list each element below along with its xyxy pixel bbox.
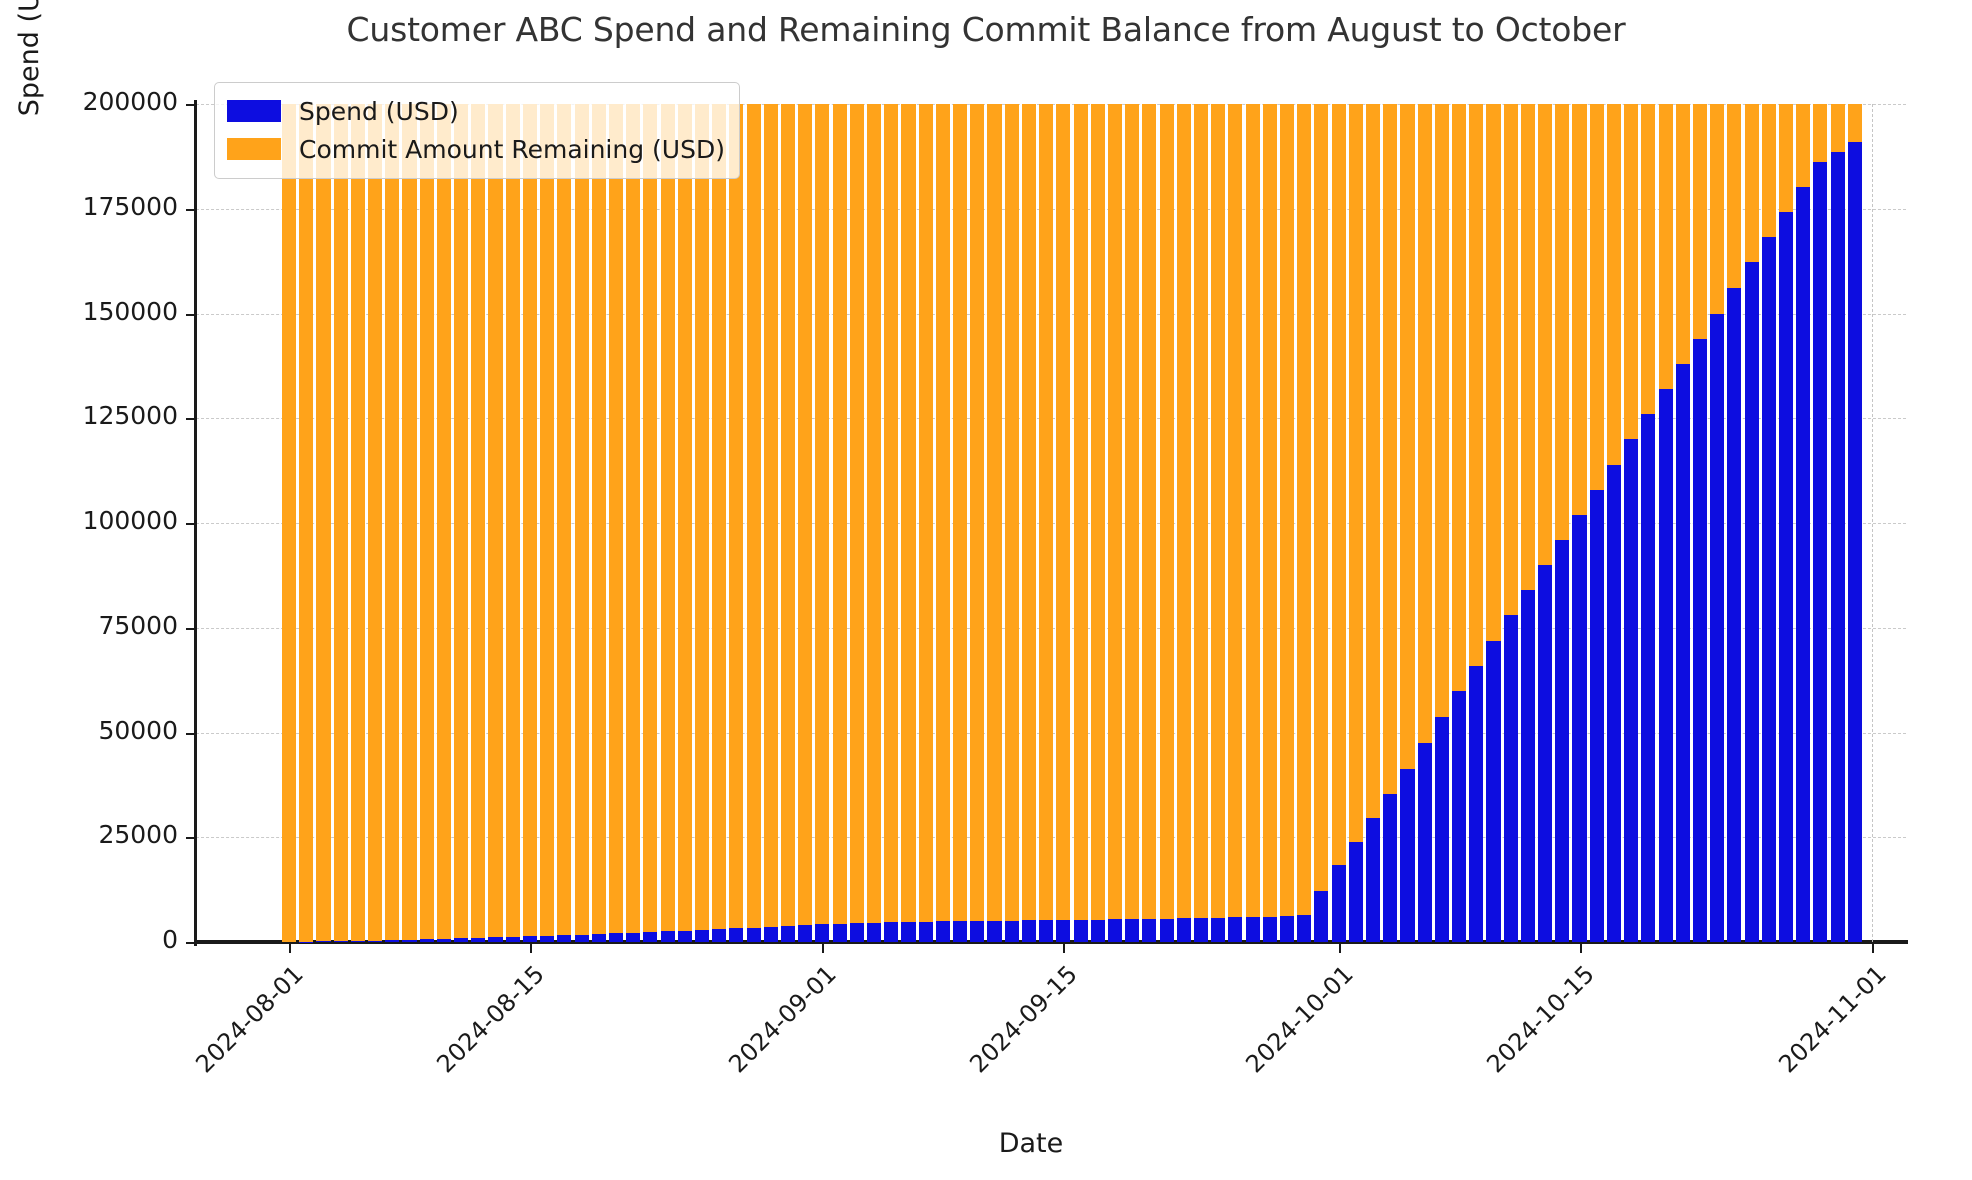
bar-column [850, 104, 864, 942]
bar-segment-commit-remaining [1263, 104, 1277, 917]
bar-column [1572, 104, 1586, 942]
bar-segment-spend [351, 941, 365, 942]
bar-column [282, 104, 296, 942]
bar-segment-commit-remaining [987, 104, 1001, 921]
bar-segment-commit-remaining [1297, 104, 1311, 915]
legend-label-spend: Spend (USD) [299, 97, 459, 126]
bar-column [1504, 104, 1518, 942]
bar-segment-spend [867, 923, 881, 942]
bar-segment-commit-remaining [1177, 104, 1191, 918]
bar-column [919, 104, 933, 942]
bar-segment-spend [454, 938, 468, 942]
chart-figure: Customer ABC Spend and Remaining Commit … [0, 0, 1972, 1180]
bar-column [1521, 104, 1535, 942]
bar-column [626, 104, 640, 942]
bar-column [1400, 104, 1414, 942]
bar-segment-commit-remaining [1332, 104, 1346, 865]
bar-segment-commit-remaining [661, 104, 675, 931]
bar-segment-spend [815, 924, 829, 942]
bar-column [316, 104, 330, 942]
legend-item-spend: Spend (USD) [227, 92, 725, 130]
bar-segment-spend [1383, 794, 1397, 942]
bar-segment-commit-remaining [678, 104, 692, 931]
bar-segment-spend [1418, 743, 1432, 942]
bar-segment-spend [1108, 919, 1122, 942]
bar-segment-spend [1332, 865, 1346, 942]
bar-segment-spend [1177, 918, 1191, 942]
bar-column [1435, 104, 1449, 942]
bar-segment-commit-remaining [1383, 104, 1397, 794]
bar-segment-commit-remaining [695, 104, 709, 930]
bar-column [1263, 104, 1277, 942]
bar-column [1091, 104, 1105, 942]
bar-column [1555, 104, 1569, 942]
bar-column [1693, 104, 1707, 942]
bar-segment-spend [609, 933, 623, 942]
bar-segment-commit-remaining [1486, 104, 1500, 641]
bar-column [1727, 104, 1741, 942]
bar-segment-spend [970, 921, 984, 942]
x-axis-label: Date [0, 1128, 1972, 1159]
bar-segment-spend [1745, 262, 1759, 942]
legend-label-commit-remaining: Commit Amount Remaining (USD) [299, 135, 725, 164]
y-tick-label: 0 [0, 925, 178, 954]
bar-column [1538, 104, 1552, 942]
x-tick-label: 2024-08-01 [148, 960, 309, 1121]
bar-segment-commit-remaining [488, 104, 502, 937]
bar-segment-spend [833, 924, 847, 942]
bar-segment-commit-remaining [575, 104, 589, 935]
y-tick-mark [186, 104, 197, 106]
bar-column [1418, 104, 1432, 942]
bar-column [695, 104, 709, 942]
bar-column [385, 104, 399, 942]
bar-segment-spend [1607, 465, 1621, 942]
bar-segment-commit-remaining [299, 104, 313, 942]
bar-segment-spend [712, 929, 726, 942]
bar-column [506, 104, 520, 942]
y-tick-label: 175000 [0, 192, 178, 221]
y-tick-label: 125000 [0, 401, 178, 430]
legend-swatch-commit-remaining [227, 138, 281, 160]
y-tick-mark [186, 837, 197, 839]
bar-column [1125, 104, 1139, 942]
bar-column [334, 104, 348, 942]
bar-segment-spend [1366, 818, 1380, 942]
bar-column [523, 104, 537, 942]
bar-column [661, 104, 675, 942]
bar-column [1022, 104, 1036, 942]
bar-segment-commit-remaining [1813, 104, 1827, 162]
bar-column [1762, 104, 1776, 942]
bar-column [1745, 104, 1759, 942]
bar-segment-commit-remaining [471, 104, 485, 938]
bar-segment-commit-remaining [815, 104, 829, 924]
bar-segment-commit-remaining [953, 104, 967, 921]
x-tick-mark [1872, 942, 1874, 953]
bar-segment-commit-remaining [867, 104, 881, 923]
bar-segment-spend [850, 923, 864, 942]
bar-segment-spend [1710, 314, 1724, 943]
bar-segment-commit-remaining [609, 104, 623, 933]
bar-segment-commit-remaining [454, 104, 468, 938]
bar-segment-spend [1624, 439, 1638, 942]
bar-segment-spend [626, 933, 640, 942]
bar-segment-spend [1211, 918, 1225, 942]
bar-segment-commit-remaining [1005, 104, 1019, 921]
x-tick-mark [289, 942, 291, 953]
bar-segment-spend [1452, 691, 1466, 942]
bar-column [454, 104, 468, 942]
bar-segment-spend [334, 941, 348, 942]
bar-column [1813, 104, 1827, 942]
bar-segment-spend [1555, 540, 1569, 942]
bar-segment-commit-remaining [334, 104, 348, 941]
bar-segment-spend [1486, 641, 1500, 942]
bar-segment-spend [1194, 918, 1208, 942]
chart-legend: Spend (USD) Commit Amount Remaining (USD… [214, 82, 740, 179]
bar-column [1624, 104, 1638, 942]
bar-segment-commit-remaining [1572, 104, 1586, 515]
bar-column [1779, 104, 1793, 942]
gridline-vertical [1872, 104, 1873, 942]
bar-column [1676, 104, 1690, 942]
x-tick-mark [822, 942, 824, 953]
bar-segment-spend [368, 941, 382, 943]
bar-segment-commit-remaining [884, 104, 898, 922]
bar-segment-commit-remaining [1831, 104, 1845, 152]
bar-segment-spend [1246, 917, 1260, 942]
bar-segment-commit-remaining [1590, 104, 1604, 490]
y-tick-label: 25000 [0, 820, 178, 849]
bar-segment-commit-remaining [1521, 104, 1535, 590]
bar-segment-commit-remaining [1796, 104, 1810, 187]
bar-segment-spend [592, 934, 606, 942]
bar-segment-spend [1039, 920, 1053, 942]
bar-segment-spend [678, 931, 692, 942]
plot-area [196, 104, 1906, 942]
bar-column [1486, 104, 1500, 942]
bar-column [1142, 104, 1156, 942]
bar-column [1848, 104, 1862, 942]
bar-segment-commit-remaining [557, 104, 571, 935]
bar-column [1074, 104, 1088, 942]
bar-segment-spend [575, 935, 589, 942]
bar-segment-commit-remaining [1659, 104, 1673, 389]
bar-column [815, 104, 829, 942]
bar-segment-commit-remaining [1108, 104, 1122, 919]
bar-column [540, 104, 554, 942]
bar-column [643, 104, 657, 942]
bar-segment-commit-remaining [643, 104, 657, 932]
bar-column [488, 104, 502, 942]
bar-segment-spend [1074, 920, 1088, 942]
bar-segment-commit-remaining [1125, 104, 1139, 919]
bar-segment-spend [919, 922, 933, 942]
y-tick-mark [186, 418, 197, 420]
bar-column [1469, 104, 1483, 942]
x-tick-label: 2024-09-01 [681, 960, 842, 1121]
bar-column [953, 104, 967, 942]
bar-segment-spend [1160, 919, 1174, 942]
bar-segment-spend [488, 937, 502, 942]
bar-segment-spend [1831, 152, 1845, 942]
x-tick-label: 2024-09-15 [922, 960, 1083, 1121]
bar-segment-commit-remaining [1246, 104, 1260, 917]
bar-column [1366, 104, 1380, 942]
bar-segment-commit-remaining [1022, 104, 1036, 920]
bar-segment-commit-remaining [833, 104, 847, 924]
bar-segment-commit-remaining [1555, 104, 1569, 540]
bar-segment-commit-remaining [1693, 104, 1707, 339]
bar-segment-commit-remaining [1607, 104, 1621, 465]
bar-segment-spend [695, 930, 709, 942]
y-tick-mark [186, 314, 197, 316]
bar-segment-spend [987, 921, 1001, 942]
bar-segment-spend [420, 939, 434, 942]
bar-column [1056, 104, 1070, 942]
bar-column [901, 104, 915, 942]
bar-segment-commit-remaining [901, 104, 915, 922]
bar-segment-commit-remaining [282, 104, 296, 942]
bar-column [1383, 104, 1397, 942]
bar-segment-spend [1538, 565, 1552, 942]
bar-column [987, 104, 1001, 942]
bar-segment-spend [1400, 769, 1414, 942]
bar-segment-commit-remaining [1710, 104, 1724, 314]
bar-column [1228, 104, 1242, 942]
bar-column [798, 104, 812, 942]
bar-column [471, 104, 485, 942]
bar-segment-spend [953, 921, 967, 942]
bar-segment-spend [798, 925, 812, 942]
bar-segment-commit-remaining [1142, 104, 1156, 919]
bar-segment-commit-remaining [402, 104, 416, 940]
bar-segment-spend [506, 937, 520, 942]
bar-segment-commit-remaining [437, 104, 451, 939]
y-tick-mark [186, 628, 197, 630]
bar-segment-spend [1762, 237, 1776, 942]
x-tick-label: 2024-10-15 [1438, 960, 1599, 1121]
bar-segment-spend [1297, 915, 1311, 942]
bar-segment-spend [1228, 917, 1242, 942]
bar-segment-spend [1125, 919, 1139, 942]
x-tick-label: 2024-10-01 [1197, 960, 1358, 1121]
bar-segment-spend [385, 940, 399, 942]
x-tick-label: 2024-08-15 [389, 960, 550, 1121]
bar-segment-commit-remaining [1745, 104, 1759, 262]
bar-segment-spend [729, 928, 743, 942]
bar-segment-commit-remaining [1228, 104, 1242, 917]
bar-column [884, 104, 898, 942]
chart-title: Customer ABC Spend and Remaining Commit … [0, 10, 1972, 49]
bar-segment-commit-remaining [1211, 104, 1225, 918]
y-tick-label: 75000 [0, 611, 178, 640]
bar-column [1607, 104, 1621, 942]
bar-segment-commit-remaining [1056, 104, 1070, 920]
bar-segment-spend [1504, 615, 1518, 942]
bar-segment-commit-remaining [1160, 104, 1174, 919]
bar-segment-commit-remaining [1452, 104, 1466, 691]
bar-segment-spend [1280, 916, 1294, 942]
bar-segment-commit-remaining [1366, 104, 1380, 818]
bar-segment-spend [1022, 920, 1036, 942]
bar-segment-spend [1056, 920, 1070, 942]
bar-segment-spend [1693, 339, 1707, 942]
bar-segment-commit-remaining [781, 104, 795, 926]
x-tick-mark [1580, 942, 1582, 953]
bar-segment-commit-remaining [1194, 104, 1208, 918]
y-tick-label: 200000 [0, 87, 178, 116]
bar-column [1246, 104, 1260, 942]
bar-segment-commit-remaining [1762, 104, 1776, 237]
bar-segment-commit-remaining [1727, 104, 1741, 288]
bar-column [747, 104, 761, 942]
bar-column [712, 104, 726, 942]
bar-column [1831, 104, 1845, 942]
bar-segment-commit-remaining [1538, 104, 1552, 565]
bar-segment-spend [661, 931, 675, 942]
bar-column [1005, 104, 1019, 942]
bar-column [351, 104, 365, 942]
x-tick-mark [1063, 942, 1065, 953]
bar-segment-commit-remaining [850, 104, 864, 923]
bar-segment-spend [901, 922, 915, 942]
bar-segment-commit-remaining [1779, 104, 1793, 212]
bar-segment-commit-remaining [1624, 104, 1638, 439]
bar-segment-spend [1727, 288, 1741, 942]
bar-segment-commit-remaining [1418, 104, 1432, 743]
y-tick-mark [186, 209, 197, 211]
bar-segment-commit-remaining [316, 104, 330, 941]
bar-segment-spend [557, 935, 571, 942]
y-tick-mark [186, 942, 197, 944]
bar-column [1108, 104, 1122, 942]
bar-segment-spend [884, 922, 898, 942]
bar-segment-spend [1659, 389, 1673, 942]
bar-segment-commit-remaining [523, 104, 537, 936]
bar-segment-spend [764, 927, 778, 942]
bar-segment-spend [936, 921, 950, 942]
bar-segment-commit-remaining [368, 104, 382, 940]
bar-segment-spend [1848, 142, 1862, 942]
bar-column [1349, 104, 1363, 942]
bar-segment-commit-remaining [1676, 104, 1690, 364]
bar-segment-commit-remaining [919, 104, 933, 922]
x-tick-mark [530, 942, 532, 953]
bar-segment-commit-remaining [1641, 104, 1655, 414]
bar-segment-commit-remaining [1504, 104, 1518, 615]
bar-column [1710, 104, 1724, 942]
bar-column [1039, 104, 1053, 942]
legend-swatch-spend [227, 100, 281, 122]
bar-segment-spend [1005, 921, 1019, 942]
bar-segment-spend [1590, 490, 1604, 942]
bar-column [764, 104, 778, 942]
bar-segment-commit-remaining [592, 104, 606, 934]
bar-segment-spend [1349, 842, 1363, 942]
bar-segment-commit-remaining [1091, 104, 1105, 920]
bar-column [1590, 104, 1604, 942]
x-axis-label-text: Date [999, 1128, 1064, 1159]
bar-column [1796, 104, 1810, 942]
bar-segment-commit-remaining [1039, 104, 1053, 920]
bar-column [936, 104, 950, 942]
y-tick-mark [186, 523, 197, 525]
bar-segment-commit-remaining [1469, 104, 1483, 666]
bar-column [1160, 104, 1174, 942]
bar-segment-spend [643, 932, 657, 942]
bar-segment-spend [1091, 920, 1105, 942]
bar-segment-commit-remaining [1280, 104, 1294, 916]
bar-segment-commit-remaining [1400, 104, 1414, 769]
bar-column [781, 104, 795, 942]
bar-segment-spend [781, 926, 795, 942]
bar-segment-commit-remaining [420, 104, 434, 939]
bar-column [1194, 104, 1208, 942]
bar-column [609, 104, 623, 942]
bar-segment-commit-remaining [936, 104, 950, 921]
bar-column [368, 104, 382, 942]
bar-segment-commit-remaining [764, 104, 778, 927]
bar-segment-commit-remaining [540, 104, 554, 936]
legend-item-commit-remaining: Commit Amount Remaining (USD) [227, 130, 725, 168]
bar-column [437, 104, 451, 942]
bar-segment-spend [540, 936, 554, 942]
bar-column [833, 104, 847, 942]
bar-segment-spend [1813, 162, 1827, 942]
bar-segment-spend [1314, 891, 1328, 942]
x-tick-label: 2024-11-01 [1731, 960, 1892, 1121]
bar-column [1452, 104, 1466, 942]
bar-column [1177, 104, 1191, 942]
bar-segment-commit-remaining [1349, 104, 1363, 842]
bar-column [1280, 104, 1294, 942]
bar-column [1314, 104, 1328, 942]
bar-column [402, 104, 416, 942]
bar-segment-spend [1263, 917, 1277, 942]
bar-column [575, 104, 589, 942]
bar-segment-commit-remaining [729, 104, 743, 928]
bar-segment-commit-remaining [712, 104, 726, 929]
bar-segment-commit-remaining [351, 104, 365, 941]
bar-column [557, 104, 571, 942]
bar-segment-commit-remaining [970, 104, 984, 921]
bar-segment-spend [471, 938, 485, 942]
bar-column [1641, 104, 1655, 942]
bar-column [420, 104, 434, 942]
bar-column [592, 104, 606, 942]
bar-segment-commit-remaining [1314, 104, 1328, 891]
bar-segment-commit-remaining [1074, 104, 1088, 920]
bar-segment-spend [437, 939, 451, 942]
bar-segment-spend [1641, 414, 1655, 942]
bar-column [1659, 104, 1673, 942]
bar-segment-commit-remaining [506, 104, 520, 937]
bar-segment-spend [316, 941, 330, 942]
y-tick-label: 50000 [0, 716, 178, 745]
bar-column [678, 104, 692, 942]
bar-segment-commit-remaining [1848, 104, 1862, 142]
bar-column [970, 104, 984, 942]
y-tick-mark [186, 733, 197, 735]
bar-segment-spend [747, 928, 761, 942]
bar-column [729, 104, 743, 942]
bar-column [299, 104, 313, 942]
bar-segment-commit-remaining [747, 104, 761, 928]
x-tick-mark [1339, 942, 1341, 953]
bar-column [1211, 104, 1225, 942]
